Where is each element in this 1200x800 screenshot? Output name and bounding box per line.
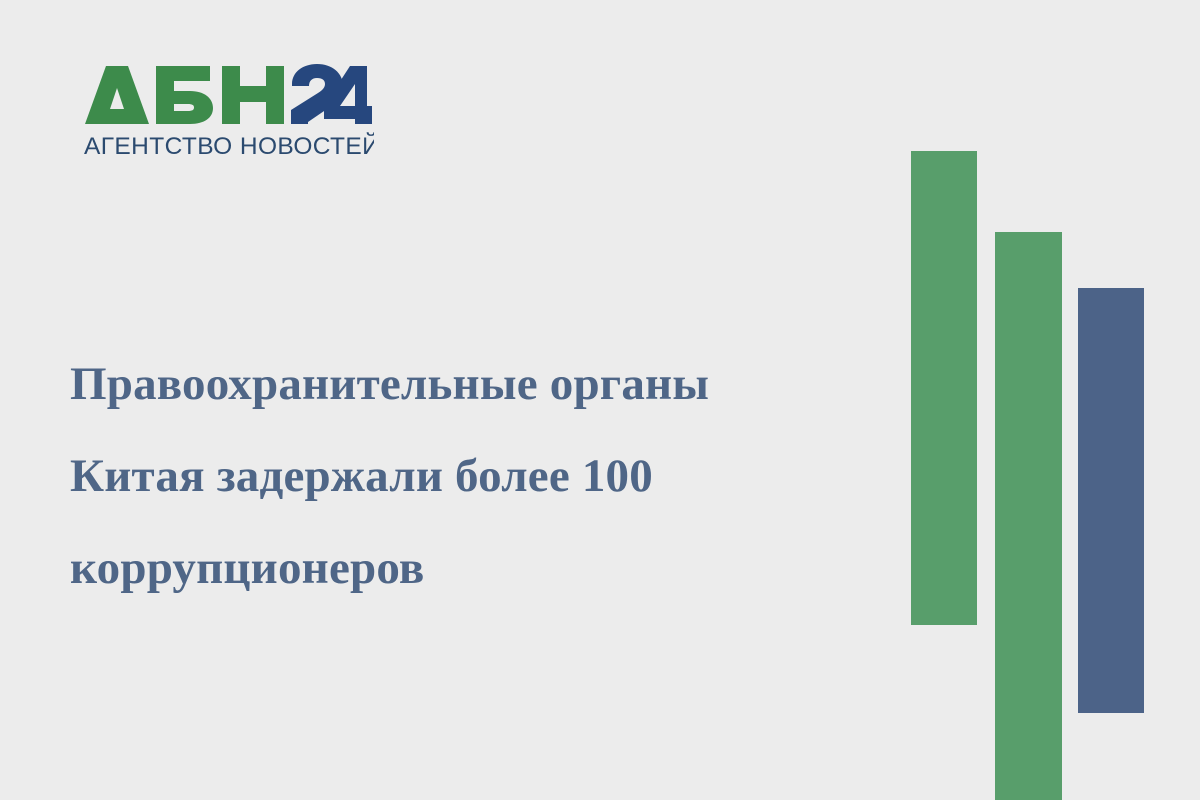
news-card-canvas: АГЕНТСТВО НОВОСТЕЙ Правоохранительные ор… (0, 0, 1200, 800)
logo-tagline: АГЕНТСТВО НОВОСТЕЙ (84, 132, 374, 158)
headline-line-3: коррупционеров (70, 522, 880, 614)
chart-bar-2 (995, 232, 1062, 800)
headline-line-2: Китая задержали более 100 (70, 430, 880, 522)
chart-bar-3 (1078, 288, 1144, 713)
logo-letter-N-icon (222, 66, 284, 124)
abn24-logo[interactable]: АГЕНТСТВО НОВОСТЕЙ (84, 62, 374, 158)
headline-line-1: Правоохранительные органы (70, 338, 880, 430)
logo-letter-B-icon (156, 66, 213, 124)
chart-bar-1 (911, 151, 977, 625)
logo-letter-A-icon (85, 66, 149, 124)
headline: Правоохранительные органы Китая задержал… (70, 338, 880, 614)
